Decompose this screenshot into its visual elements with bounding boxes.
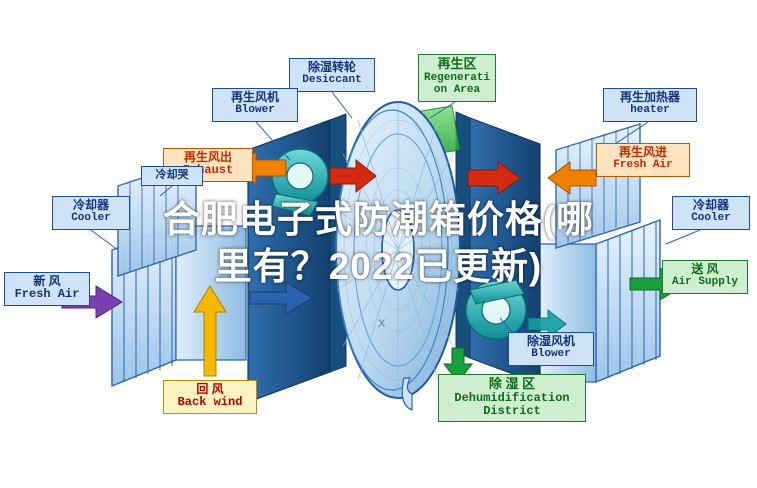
- label-regeneration-fan-en: Blower: [216, 104, 294, 116]
- label-cooler-right: 冷却器Cooler: [672, 196, 750, 230]
- diagram-canvas: 合肥电子式防潮箱价格(哪 里有？2022已更新) 除湿转轮Desiccant再生…: [0, 0, 757, 488]
- label-regeneration-fan-cn: 再生风机: [216, 91, 294, 104]
- label-dehumidify-area: 除 湿 区Dehumidification District: [438, 374, 586, 422]
- label-regeneration-heater-en: heater: [607, 104, 693, 116]
- label-air-supply-cn: 送 风: [666, 263, 744, 276]
- label-cooler-right-en: Cooler: [676, 212, 746, 224]
- label-dehumidify-area-en: Dehumidification District: [442, 392, 582, 419]
- label-fresh-air: 新 风Fresh Air: [4, 272, 90, 306]
- label-back-wind-cn: 回 风: [167, 383, 253, 396]
- label-cooler-left: 冷却哭: [141, 166, 203, 186]
- label-air-supply-en: Air Supply: [666, 276, 744, 288]
- label-fresh-air-en: Fresh Air: [8, 288, 86, 301]
- label-air-supply: 送 风Air Supply: [662, 260, 748, 294]
- label-cooler-left-2: 冷却器Cooler: [52, 196, 130, 230]
- label-regeneration-heater-cn: 再生加热器: [607, 91, 693, 104]
- label-cooler-left-2-cn: 冷却器: [56, 199, 126, 212]
- label-regeneration-area-en: Regenerati on Area: [422, 72, 492, 97]
- label-regeneration-inlet-en: Fresh Air: [600, 159, 686, 171]
- label-back-wind-en: Back wind: [167, 396, 253, 409]
- label-regeneration-inlet-cn: 再生风进: [600, 146, 686, 159]
- label-regeneration-area-cn: 再生区: [422, 57, 492, 72]
- label-desiccant-wheel: 除湿转轮Desiccant: [289, 58, 375, 92]
- mark-wheel-mark-x: X: [378, 318, 385, 330]
- label-regeneration-heater: 再生加热器heater: [603, 88, 697, 122]
- label-cooler-right-cn: 冷却器: [676, 199, 746, 212]
- label-dehumidify-fan-en: Blower: [512, 348, 590, 360]
- label-regeneration-fan: 再生风机Blower: [212, 88, 298, 122]
- label-desiccant-wheel-cn: 除湿转轮: [293, 61, 371, 74]
- label-dehumidify-fan: 除湿风机Blower: [508, 332, 594, 366]
- label-regeneration-area: 再生区Regenerati on Area: [418, 54, 496, 102]
- label-dehumidify-area-cn: 除 湿 区: [442, 377, 582, 392]
- label-fresh-air-cn: 新 风: [8, 275, 86, 288]
- label-exhaust-cn: 再生风出: [167, 151, 249, 164]
- watermark-line-2: 里有？2022已更新): [0, 243, 757, 290]
- label-cooler-left-2-en: Cooler: [56, 212, 126, 224]
- label-dehumidify-fan-cn: 除湿风机: [512, 335, 590, 348]
- label-cooler-left-cn: 冷却哭: [145, 169, 199, 181]
- label-regeneration-inlet: 再生风进Fresh Air: [596, 143, 690, 177]
- label-desiccant-wheel-en: Desiccant: [293, 74, 371, 86]
- label-back-wind: 回 风Back wind: [163, 380, 257, 414]
